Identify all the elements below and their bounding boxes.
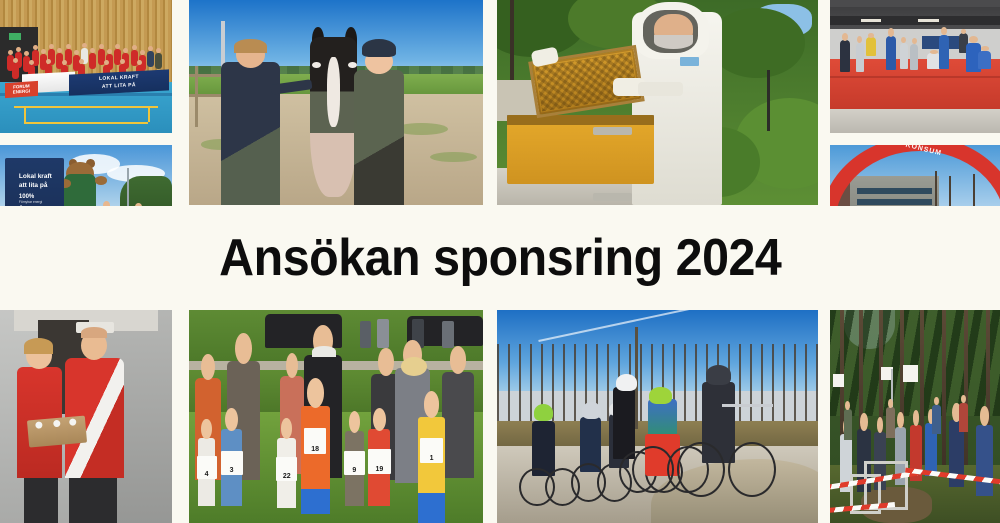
race-bib: 4: [197, 456, 217, 479]
race-bib: 22: [276, 457, 297, 481]
race-bib: 18: [304, 428, 326, 454]
photo-tile-bmx-pump-track: [497, 310, 818, 523]
photo-tile-sports-hall-group: LOKAL KRAFT ATT LITA PÅ FORUM ENERGI: [0, 0, 172, 133]
photo-tile-kids-fun-run: 4 3 22 18 9 19 1: [189, 310, 483, 523]
photo-tile-horse-and-riders: [189, 0, 483, 205]
photo-tile-orienteering-forest: [830, 300, 1000, 523]
headline-band: Ansökan sponsring 2024: [0, 206, 1000, 310]
race-bib: 1: [420, 438, 443, 463]
photo-tile-judo-training: [830, 0, 1000, 133]
race-bib: 19: [368, 449, 391, 474]
race-bib: 9: [344, 451, 365, 475]
race-bib: 3: [221, 451, 243, 476]
page-title: Ansökan sponsring 2024: [219, 228, 781, 288]
photo-tile-red-shirts-with-box: [0, 300, 172, 523]
photo-collage: LOKAL KRAFT ATT LITA PÅ FORUM ENERGI: [0, 0, 1000, 523]
photo-tile-beekeeper: [497, 0, 818, 205]
hall-banner-logo: FORUM ENERGI: [5, 81, 38, 98]
